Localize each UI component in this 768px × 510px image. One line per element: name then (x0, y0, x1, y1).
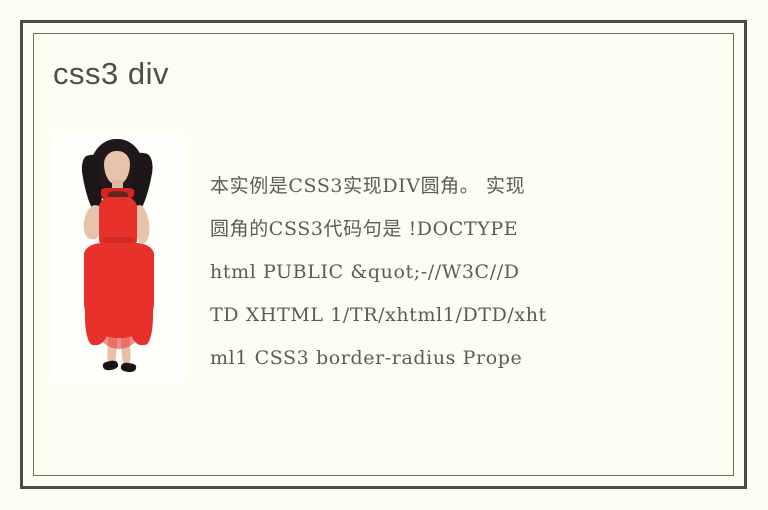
dress-sheer-overlay-icon (97, 301, 141, 349)
description-line: 圆角的CSS3代码句是 !DOCTYPE (210, 208, 720, 251)
product-photo-container (51, 133, 186, 383)
description-block: 本实例是CSS3实现DIV圆角。 实现 圆角的CSS3代码句是 !DOCTYPE… (210, 133, 720, 380)
description-line: 本实例是CSS3实现DIV圆角。 实现 (210, 165, 720, 208)
shoe-left-icon (102, 359, 119, 371)
content-row: 本实例是CSS3实现DIV圆角。 实现 圆角的CSS3代码句是 !DOCTYPE… (51, 133, 720, 383)
description-line: ml1 CSS3 border-radius Prope (210, 337, 720, 380)
outer-frame-border: css3 div (20, 20, 747, 489)
woman-red-dress-photo (51, 133, 186, 383)
page-root: css3 div (0, 0, 768, 510)
page-title: css3 div (53, 56, 169, 92)
shoe-right-icon (120, 362, 136, 373)
page-content: css3 div (23, 23, 744, 486)
description-line: html PUBLIC &quot;-//W3C//D (210, 251, 720, 294)
description-line: TD XHTML 1/TR/xhtml1/DTD/xht (210, 294, 720, 337)
